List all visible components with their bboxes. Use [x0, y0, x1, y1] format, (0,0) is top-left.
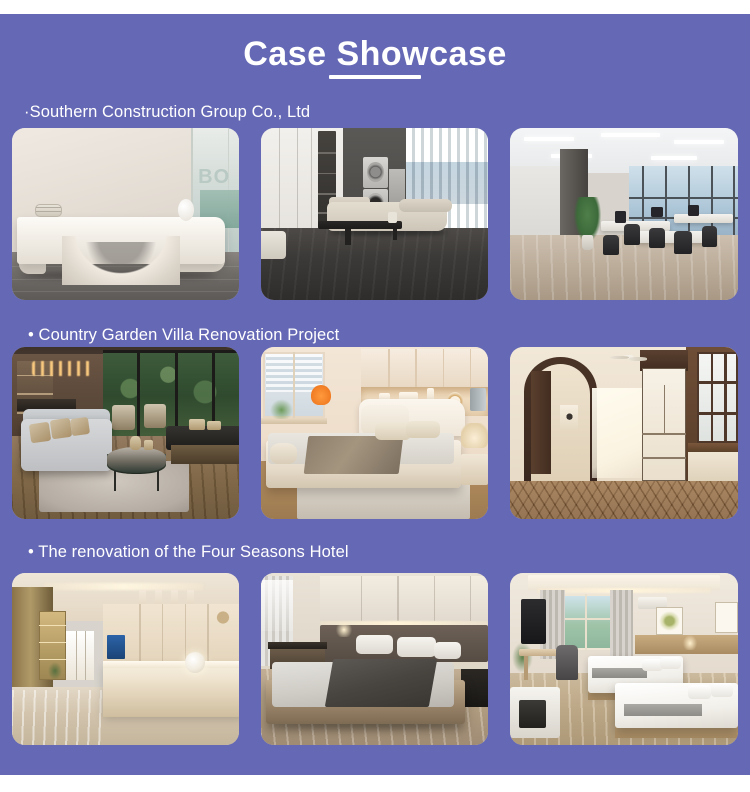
- case-image-3-1[interactable]: [12, 573, 239, 745]
- scene-luxury-living-room: [12, 347, 239, 519]
- scene-twin-bed-hotel-room: [510, 573, 738, 745]
- case-image-2-2[interactable]: [261, 347, 488, 519]
- scene-modern-hotel-bedroom: [261, 573, 488, 745]
- section-heading-1: ·Southern Construction Group Co., Ltd: [24, 103, 310, 122]
- title-underline: [329, 75, 421, 79]
- case-image-2-1[interactable]: [12, 347, 239, 519]
- case-image-1-1[interactable]: BO: [12, 128, 239, 300]
- case-image-1-3[interactable]: [510, 128, 738, 300]
- scene-reception-desk: BO: [12, 128, 239, 300]
- page-title: Case Showcase: [243, 32, 507, 76]
- case-image-1-2[interactable]: [261, 128, 488, 300]
- case-image-3-3[interactable]: [510, 573, 738, 745]
- scene-arch-hallway: [510, 347, 738, 519]
- scene-grey-floor-apartment: [261, 128, 488, 300]
- section-heading-2: • Country Garden Villa Renovation Projec…: [28, 326, 339, 345]
- case-image-2-3[interactable]: [510, 347, 738, 519]
- scene-open-plan-office: [510, 128, 738, 300]
- scene-cream-bedroom: [261, 347, 488, 519]
- case-showcase-page: Case Showcase ·Southern Construction Gro…: [0, 0, 750, 792]
- case-image-3-2[interactable]: [261, 573, 488, 745]
- page-title-wrap: Case Showcase: [0, 32, 750, 76]
- scene-hotel-lobby: [12, 573, 239, 745]
- section-heading-3: • The renovation of the Four Seasons Hot…: [28, 543, 349, 562]
